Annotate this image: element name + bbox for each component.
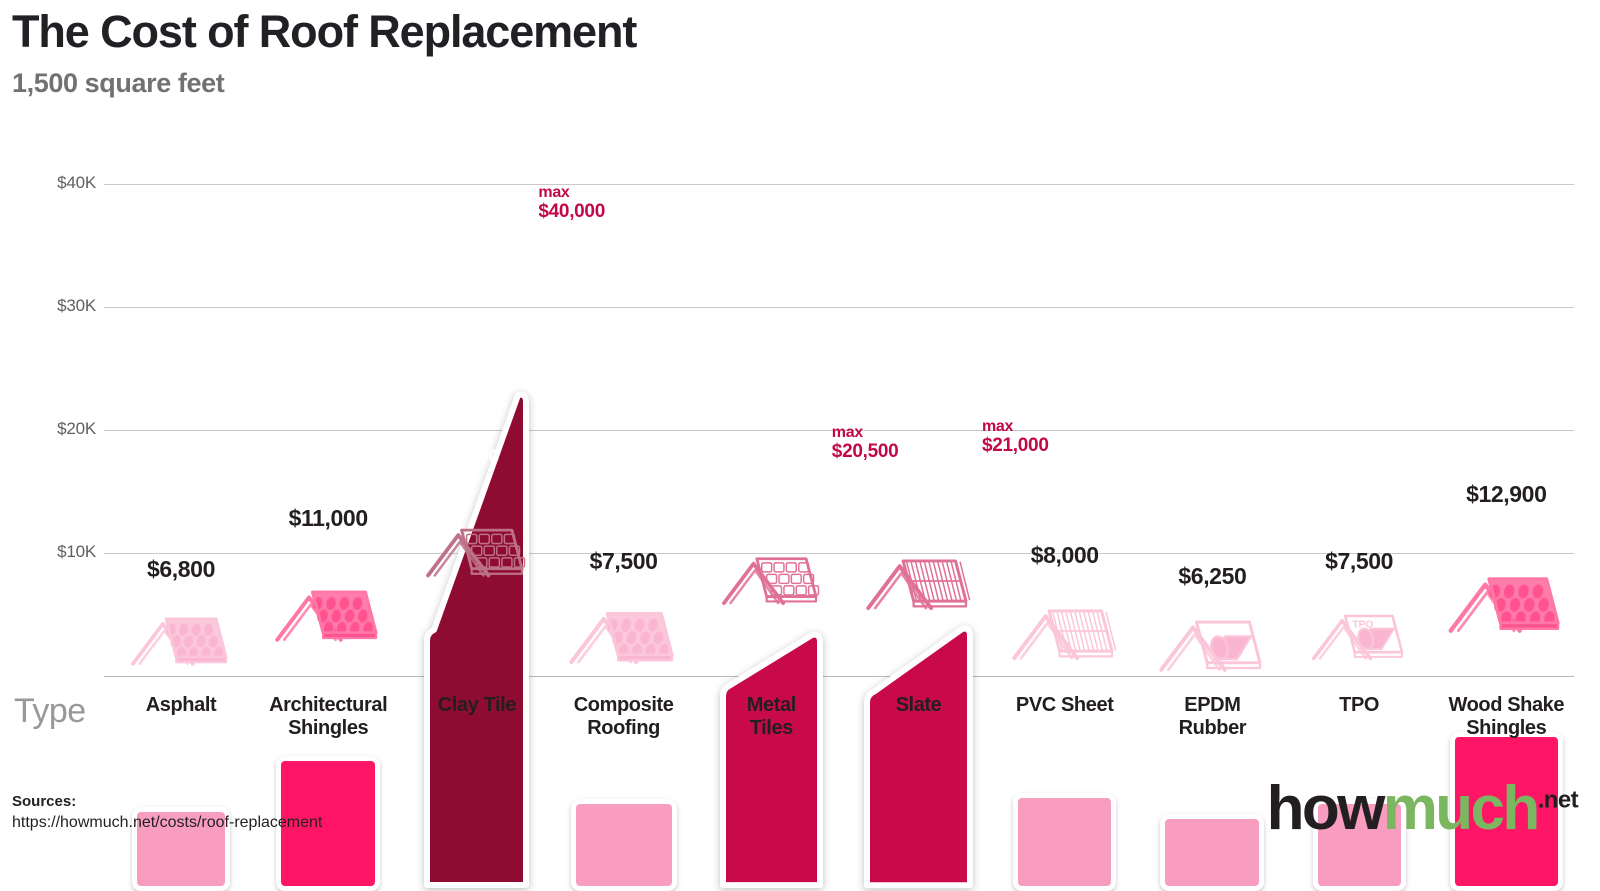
x-axis-category-line: Tiles bbox=[750, 717, 793, 739]
bar-metal-tiles[interactable] bbox=[717, 627, 826, 891]
axis-baseline bbox=[104, 676, 1574, 677]
max-key: max bbox=[832, 424, 863, 441]
roof-shingle-icon bbox=[1445, 556, 1568, 636]
x-axis-title: Type bbox=[14, 692, 86, 731]
max-value: $21,000 bbox=[982, 436, 1049, 456]
logo-net-text: .net bbox=[1538, 786, 1578, 813]
infographic-page: The Cost of Roof Replacement 1,500 squar… bbox=[0, 0, 1600, 891]
x-axis-category-line: Wood Shake bbox=[1448, 694, 1564, 716]
min-value: $15,500 bbox=[872, 509, 939, 529]
min-value: $20,500 bbox=[432, 448, 499, 468]
x-axis-category-line: Slate bbox=[896, 694, 942, 716]
bar-value-label: $7,500 bbox=[524, 548, 724, 575]
howmuch-logo: howmuch.net bbox=[1267, 778, 1578, 840]
logo-how-text: how bbox=[1267, 774, 1383, 843]
x-axis-category-wood-shake-shingles: Wood ShakeShingles bbox=[1396, 694, 1600, 740]
max-key: max bbox=[982, 418, 1013, 435]
bar-composite-roofing[interactable] bbox=[571, 799, 677, 891]
bar-value-label: $7,500 bbox=[1259, 548, 1459, 575]
x-axis-category-line: Shingles bbox=[288, 717, 368, 739]
roof-shingle-icon bbox=[128, 599, 234, 669]
x-axis-category-line: Roofing bbox=[587, 717, 660, 739]
max-value: $20,500 bbox=[832, 442, 899, 462]
min-key: min bbox=[872, 491, 900, 508]
x-axis-category-line: TPO bbox=[1339, 694, 1379, 716]
sources-label: Sources: bbox=[12, 793, 76, 810]
roof-roll-tpo-icon: TPO bbox=[1309, 597, 1410, 663]
roof-slate-icon bbox=[863, 540, 975, 613]
x-axis-category-line: Shingles bbox=[1466, 717, 1546, 739]
roof-sheet-icon bbox=[1009, 590, 1121, 663]
bar-value-label: $6,800 bbox=[81, 556, 281, 583]
svg-text:TPO: TPO bbox=[1352, 620, 1373, 631]
x-axis-category-line: Composite bbox=[574, 694, 674, 716]
bar-value-label: $11,000 bbox=[228, 505, 428, 532]
x-axis-category-line: Asphalt bbox=[146, 694, 217, 716]
sources-url: https://howmuch.net/costs/roof-replaceme… bbox=[12, 814, 322, 832]
y-axis-tick-label: $30K bbox=[0, 296, 96, 316]
roof-shingle-icon bbox=[272, 571, 385, 645]
x-axis-category-line: PVC Sheet bbox=[1016, 694, 1114, 716]
x-axis-category-line: Rubber bbox=[1179, 717, 1247, 739]
chart-plot-area: $10K$20K$30K$40K $6,800Asphalt $11,000Ar… bbox=[0, 0, 1600, 891]
x-axis-category-line: Clay Tile bbox=[438, 694, 516, 716]
bar-max-label: max$21,000 bbox=[982, 419, 1049, 456]
bar-max-label: max$40,000 bbox=[538, 185, 605, 222]
logo-much-text: much bbox=[1383, 774, 1538, 843]
bar-value-label: $12,900 bbox=[1406, 481, 1600, 508]
bar-min-label: min$16,000 bbox=[728, 486, 795, 523]
roof-roll-icon bbox=[1156, 601, 1269, 675]
gridline-30k bbox=[104, 307, 1574, 308]
y-axis-tick-label: $20K bbox=[0, 419, 96, 439]
y-axis-tick-label: $40K bbox=[0, 173, 96, 193]
gridline-40k bbox=[104, 184, 1574, 185]
max-key: max bbox=[538, 184, 569, 201]
roof-shingle-icon bbox=[566, 592, 681, 667]
x-axis-category-line: Metal bbox=[747, 694, 796, 716]
min-value: $16,000 bbox=[728, 503, 795, 523]
x-axis-category-line: EPDM bbox=[1184, 694, 1240, 716]
roof-tile-grid-icon bbox=[719, 539, 824, 608]
bar-max-label: max$20,500 bbox=[832, 425, 899, 462]
bar-min-label: min$20,500 bbox=[432, 431, 499, 468]
bar-pvc-sheet[interactable] bbox=[1013, 793, 1116, 891]
min-key: min bbox=[728, 485, 756, 502]
bar-epdm-rubber[interactable] bbox=[1160, 814, 1264, 891]
bar-slate[interactable] bbox=[861, 621, 976, 891]
bar-min-label: min$15,500 bbox=[872, 492, 939, 529]
max-value: $40,000 bbox=[538, 202, 605, 222]
min-key: min bbox=[432, 430, 460, 447]
